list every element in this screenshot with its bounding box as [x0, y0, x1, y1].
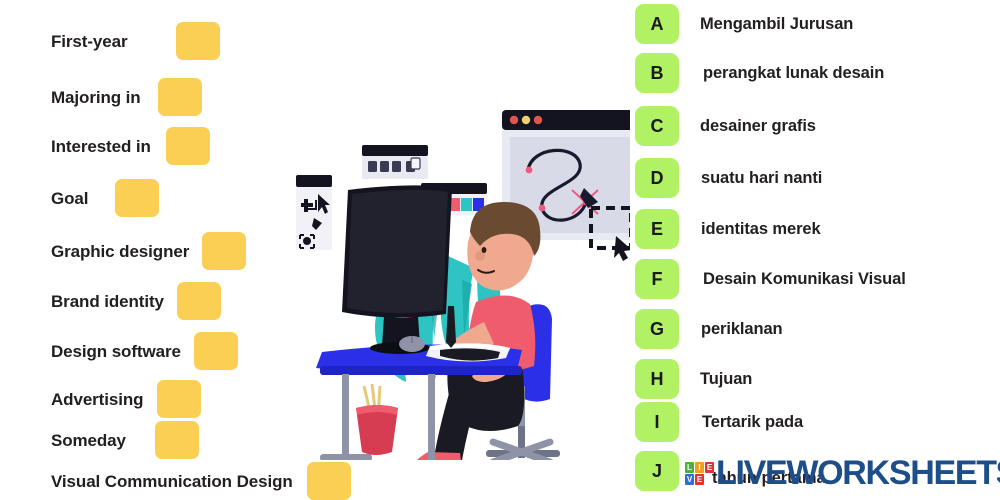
- prompt-row: Advertising: [51, 380, 201, 418]
- prompt-row: First-year: [51, 22, 220, 60]
- answer-item-h[interactable]: H Tujuan: [635, 359, 752, 399]
- answer-badge-i[interactable]: I: [635, 402, 679, 442]
- worksheet-canvas: First-year Majoring in Interested in Goa…: [0, 0, 1000, 500]
- answer-item-g[interactable]: G periklanan: [635, 309, 783, 349]
- answer-item-e[interactable]: E identitas merek: [635, 209, 821, 249]
- answer-badge-e[interactable]: E: [635, 209, 679, 249]
- drop-box-goal[interactable]: [115, 179, 159, 217]
- answer-badge-c[interactable]: C: [635, 106, 679, 146]
- prompt-label: Goal: [51, 190, 88, 207]
- logo-cell: E: [705, 462, 714, 473]
- answer-badge-b[interactable]: B: [635, 53, 679, 93]
- logo-cell: [705, 474, 714, 485]
- answer-text-b: perangkat lunak desain: [703, 65, 884, 82]
- answer-item-a[interactable]: A Mengambil Jurusan: [635, 4, 853, 44]
- prompt-row: Design software: [51, 332, 238, 370]
- answer-badge-j[interactable]: J: [635, 451, 679, 491]
- prompt-row: Interested in: [51, 127, 210, 165]
- prompt-row: Someday: [51, 421, 199, 459]
- prompt-label: Visual Communication Design: [51, 473, 293, 490]
- drop-box-first-year[interactable]: [176, 22, 220, 60]
- answer-item-i[interactable]: I Tertarik pada: [635, 402, 803, 442]
- answer-text-h: Tujuan: [700, 371, 752, 388]
- liveworksheets-watermark: L I E V E LIVEWORKSHEETS: [685, 456, 1000, 490]
- answer-bank-column: A Mengambil Jurusan B perangkat lunak de…: [630, 0, 1000, 500]
- watermark-text: LIVEWORKSHEETS: [716, 456, 1000, 490]
- answer-badge-h[interactable]: H: [635, 359, 679, 399]
- prompt-label: Interested in: [51, 138, 151, 155]
- drop-box-graphic-designer[interactable]: [202, 232, 246, 270]
- drop-box-someday[interactable]: [155, 421, 199, 459]
- prompt-label: Graphic designer: [51, 243, 189, 260]
- answer-text-f: Desain Komunikasi Visual: [703, 271, 906, 288]
- answer-badge-d[interactable]: D: [635, 158, 679, 198]
- prompt-label: Majoring in: [51, 89, 141, 106]
- answer-item-f[interactable]: F Desain Komunikasi Visual: [635, 259, 906, 299]
- answer-item-j[interactable]: J: [635, 451, 679, 491]
- prompt-row: Majoring in: [51, 78, 202, 116]
- answer-text-d: suatu hari nanti: [701, 170, 822, 187]
- prompt-label: First-year: [51, 33, 127, 50]
- prompt-row: Goal: [51, 179, 159, 217]
- prompt-column: First-year Majoring in Interested in Goa…: [0, 0, 420, 500]
- prompt-label: Advertising: [51, 391, 143, 408]
- logo-cell: I: [695, 462, 704, 473]
- answer-item-d[interactable]: D suatu hari nanti: [635, 158, 822, 198]
- answer-text-g: periklanan: [701, 321, 783, 338]
- drop-box-advertising[interactable]: [157, 380, 201, 418]
- answer-text-a: Mengambil Jurusan: [700, 16, 853, 33]
- drop-box-interested-in[interactable]: [166, 127, 210, 165]
- answer-text-i: Tertarik pada: [702, 414, 803, 431]
- logo-cell: L: [685, 462, 694, 473]
- logo-cell: V: [685, 474, 694, 485]
- prompt-row: Visual Communication Design: [51, 462, 351, 500]
- prompt-label: Brand identity: [51, 293, 164, 310]
- answer-text-e: identitas merek: [701, 221, 821, 238]
- answer-text-c: desainer grafis: [700, 118, 816, 135]
- answer-badge-f[interactable]: F: [635, 259, 679, 299]
- answer-badge-g[interactable]: G: [635, 309, 679, 349]
- drop-box-visual-communication-design[interactable]: [307, 462, 351, 500]
- drop-box-brand-identity[interactable]: [177, 282, 221, 320]
- drop-box-majoring-in[interactable]: [158, 78, 202, 116]
- prompt-row: Graphic designer: [51, 232, 246, 270]
- answer-item-b[interactable]: B perangkat lunak desain: [635, 53, 884, 93]
- drop-box-design-software[interactable]: [194, 332, 238, 370]
- liveworksheets-logo-icon: L I E V E: [685, 462, 714, 485]
- answer-item-c[interactable]: C desainer grafis: [635, 106, 816, 146]
- logo-cell: E: [695, 474, 704, 485]
- answer-badge-a[interactable]: A: [635, 4, 679, 44]
- prompt-label: Someday: [51, 432, 126, 449]
- prompt-label: Design software: [51, 343, 181, 360]
- prompt-row: Brand identity: [51, 282, 221, 320]
